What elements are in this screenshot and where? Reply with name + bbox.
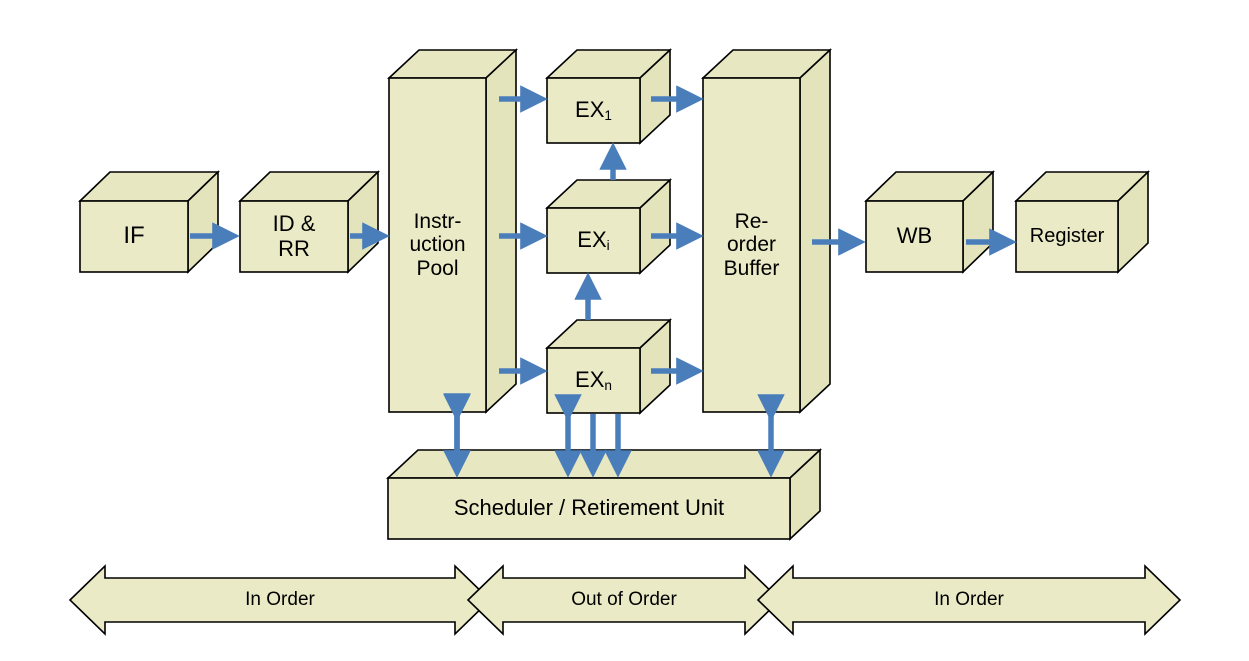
box-ex-n bbox=[547, 320, 670, 413]
box-instruction-pool bbox=[389, 50, 516, 412]
box-if bbox=[80, 172, 218, 272]
box-ex-i bbox=[547, 180, 670, 273]
box-scheduler bbox=[388, 450, 820, 539]
box-reorder-buffer bbox=[703, 50, 830, 412]
box-wb bbox=[866, 172, 993, 272]
legend-band bbox=[70, 566, 1180, 634]
legend-arrow-in-order-front bbox=[70, 566, 490, 634]
box-id-rr bbox=[240, 172, 378, 272]
flow-arrows bbox=[190, 99, 1009, 470]
legend-arrow-in-order-back bbox=[758, 566, 1180, 634]
box-register bbox=[1016, 172, 1148, 272]
diagram-svg bbox=[0, 0, 1249, 661]
diagram-canvas: IF ID & RR Instr- uction Pool EX1 EXi EX… bbox=[0, 0, 1249, 661]
legend-arrow-out-of-order bbox=[468, 566, 780, 634]
